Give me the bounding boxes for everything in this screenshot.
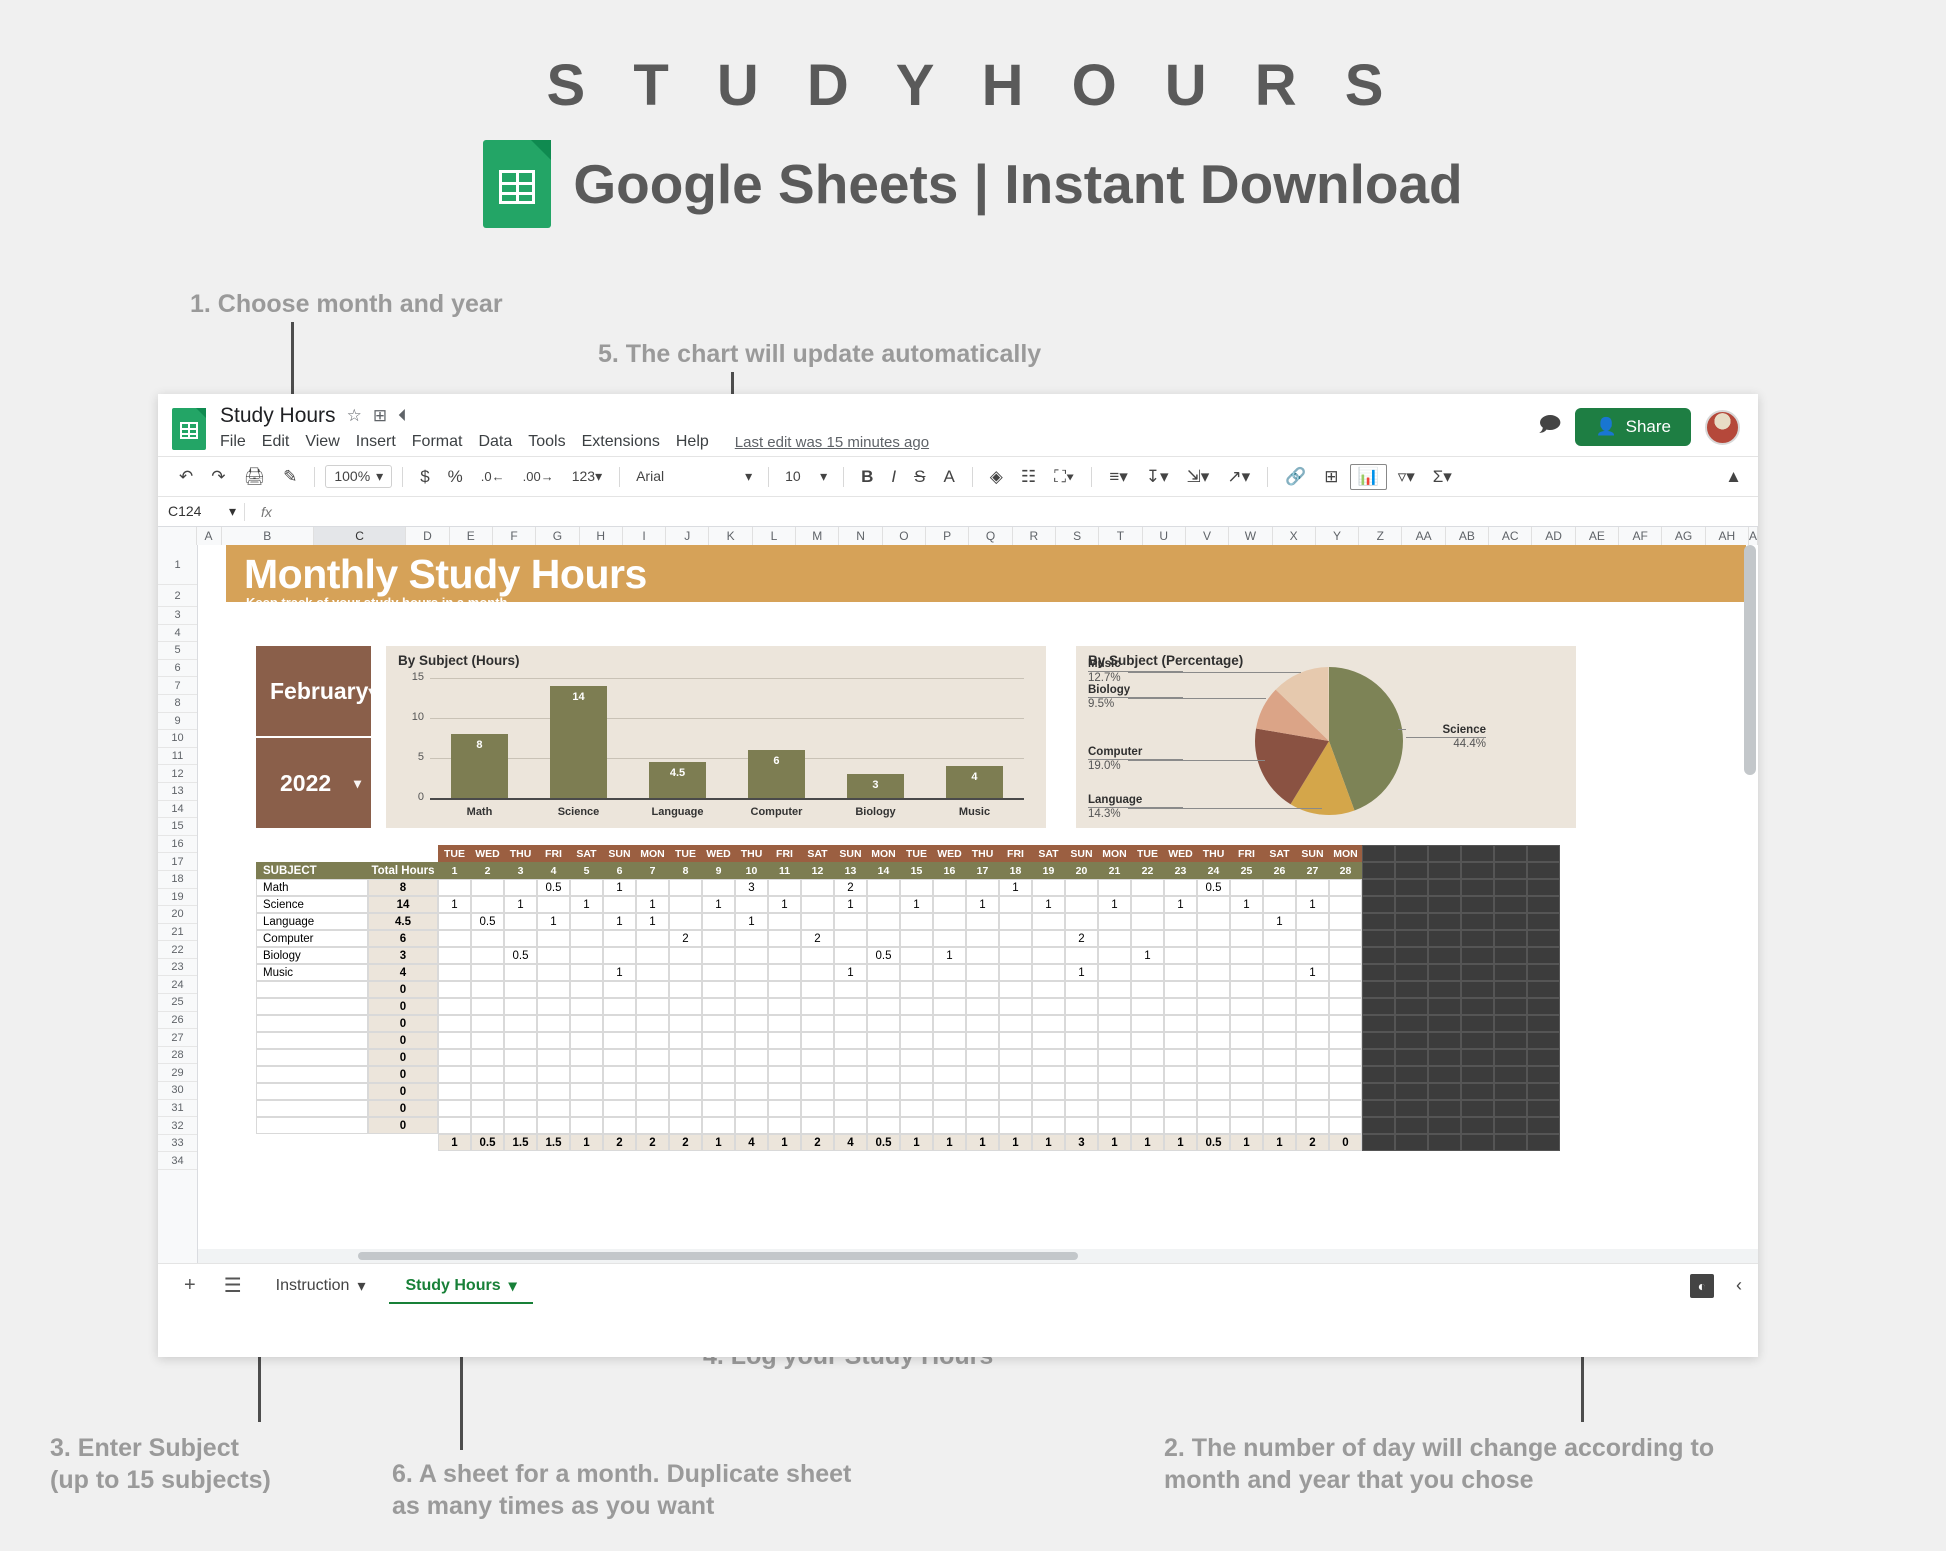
cell-r2-d14[interactable]	[867, 913, 900, 930]
star-icon[interactable]: ☆	[347, 406, 362, 426]
table-row[interactable]: Math80.513210.5	[256, 879, 1560, 896]
cell-r10-d13[interactable]	[834, 1049, 867, 1066]
cell-r13-d12[interactable]	[801, 1100, 834, 1117]
cell-r3-d7[interactable]	[636, 930, 669, 947]
cell-r6-d11[interactable]	[768, 981, 801, 998]
cell-r4-d9[interactable]	[702, 947, 735, 964]
cell-r14-d6[interactable]	[603, 1117, 636, 1134]
cell-r3-d18[interactable]	[999, 930, 1032, 947]
cell-r9-d27[interactable]	[1296, 1032, 1329, 1049]
cell-r10-d9[interactable]	[702, 1049, 735, 1066]
cell-subject-11[interactable]	[256, 1066, 368, 1083]
cell-r10-d4[interactable]	[537, 1049, 570, 1066]
row-header-25[interactable]: 25	[158, 994, 197, 1012]
cell-r12-d20[interactable]	[1065, 1083, 1098, 1100]
cell-r3-d12[interactable]: 2	[801, 930, 834, 947]
column-header-N[interactable]: N	[839, 527, 882, 545]
cell-r0-d2[interactable]	[471, 879, 504, 896]
column-header-AG[interactable]: AG	[1662, 527, 1705, 545]
cell-r5-d9[interactable]	[702, 964, 735, 981]
column-header-A2[interactable]: A	[1749, 527, 1758, 545]
cell-r8-d20[interactable]	[1065, 1015, 1098, 1032]
cell-r12-d11[interactable]	[768, 1083, 801, 1100]
cell-r0-d22[interactable]	[1131, 879, 1164, 896]
cell-r0-d18[interactable]: 1	[999, 879, 1032, 896]
cell-r4-d24[interactable]	[1197, 947, 1230, 964]
cell-r8-d27[interactable]	[1296, 1015, 1329, 1032]
cell-r12-d27[interactable]	[1296, 1083, 1329, 1100]
cell-r9-d21[interactable]	[1098, 1032, 1131, 1049]
cell-r11-d14[interactable]	[867, 1066, 900, 1083]
cell-r6-d18[interactable]	[999, 981, 1032, 998]
cell-r2-d24[interactable]	[1197, 913, 1230, 930]
cell-r14-d21[interactable]	[1098, 1117, 1131, 1134]
row-header-8[interactable]: 8	[158, 695, 197, 713]
sheet-tab-instruction[interactable]: Instruction ▾	[260, 1268, 382, 1304]
cell-r4-d11[interactable]	[768, 947, 801, 964]
cell-r10-d27[interactable]	[1296, 1049, 1329, 1066]
cell-subject-12[interactable]	[256, 1083, 368, 1100]
cell-subject-9[interactable]	[256, 1032, 368, 1049]
cell-r4-d18[interactable]	[999, 947, 1032, 964]
cell-r4-d5[interactable]	[570, 947, 603, 964]
cell-r2-d16[interactable]	[933, 913, 966, 930]
cell-r10-d2[interactable]	[471, 1049, 504, 1066]
borders-icon[interactable]: ☷	[1014, 465, 1043, 489]
cell-r13-d17[interactable]	[966, 1100, 999, 1117]
cell-r0-d1[interactable]	[438, 879, 471, 896]
cell-r10-d3[interactable]	[504, 1049, 537, 1066]
cell-r2-d23[interactable]	[1164, 913, 1197, 930]
cell-r13-d21[interactable]	[1098, 1100, 1131, 1117]
table-row[interactable]: Biology30.50.511	[256, 947, 1560, 964]
cell-r4-d23[interactable]	[1164, 947, 1197, 964]
cell-r13-d13[interactable]	[834, 1100, 867, 1117]
cell-r0-d24[interactable]: 0.5	[1197, 879, 1230, 896]
cell-r8-d24[interactable]	[1197, 1015, 1230, 1032]
row-header-6[interactable]: 6	[158, 660, 197, 678]
cell-r12-d9[interactable]	[702, 1083, 735, 1100]
table-row[interactable]: 0	[256, 1083, 1560, 1100]
cell-r0-d23[interactable]	[1164, 879, 1197, 896]
cell-r4-d17[interactable]	[966, 947, 999, 964]
cell-r5-d5[interactable]	[570, 964, 603, 981]
cell-r3-d21[interactable]	[1098, 930, 1131, 947]
insert-link-icon[interactable]: 🔗	[1278, 465, 1313, 489]
cell-r5-d16[interactable]	[933, 964, 966, 981]
column-header-AB[interactable]: AB	[1446, 527, 1489, 545]
cell-r12-d18[interactable]	[999, 1083, 1032, 1100]
cell-r1-d18[interactable]	[999, 896, 1032, 913]
cell-r10-d12[interactable]	[801, 1049, 834, 1066]
menu-insert[interactable]: Insert	[356, 433, 396, 451]
cell-r6-d20[interactable]	[1065, 981, 1098, 998]
cell-r3-d13[interactable]	[834, 930, 867, 947]
cell-r11-d22[interactable]	[1131, 1066, 1164, 1083]
column-header-B[interactable]: B	[222, 527, 314, 545]
column-header-K[interactable]: K	[709, 527, 752, 545]
cell-r12-d23[interactable]	[1164, 1083, 1197, 1100]
menu-help[interactable]: Help	[676, 433, 709, 451]
cell-r10-d7[interactable]	[636, 1049, 669, 1066]
column-header-Z[interactable]: Z	[1359, 527, 1402, 545]
cell-r13-d16[interactable]	[933, 1100, 966, 1117]
row-header-15[interactable]: 15	[158, 818, 197, 836]
cell-r12-d22[interactable]	[1131, 1083, 1164, 1100]
cell-r1-d16[interactable]	[933, 896, 966, 913]
cell-r4-d16[interactable]: 1	[933, 947, 966, 964]
cell-r10-d17[interactable]	[966, 1049, 999, 1066]
cell-r8-d22[interactable]	[1131, 1015, 1164, 1032]
redo-icon[interactable]: ↷	[204, 465, 232, 489]
cell-r5-d7[interactable]	[636, 964, 669, 981]
cell-r1-d21[interactable]: 1	[1098, 896, 1131, 913]
cell-r4-d7[interactable]	[636, 947, 669, 964]
cell-r5-d4[interactable]	[537, 964, 570, 981]
cell-r5-d18[interactable]	[999, 964, 1032, 981]
cell-r6-d6[interactable]	[603, 981, 636, 998]
cell-r12-d4[interactable]	[537, 1083, 570, 1100]
cell-r13-d9[interactable]	[702, 1100, 735, 1117]
cell-r5-d10[interactable]	[735, 964, 768, 981]
cell-r0-d7[interactable]	[636, 879, 669, 896]
cell-r5-d23[interactable]	[1164, 964, 1197, 981]
cell-r1-d7[interactable]: 1	[636, 896, 669, 913]
cell-r3-d14[interactable]	[867, 930, 900, 947]
cell-r7-d2[interactable]	[471, 998, 504, 1015]
cell-r13-d2[interactable]	[471, 1100, 504, 1117]
cell-r10-d19[interactable]	[1032, 1049, 1065, 1066]
row-header-9[interactable]: 9	[158, 713, 197, 731]
cell-r7-d10[interactable]	[735, 998, 768, 1015]
cell-r11-d17[interactable]	[966, 1066, 999, 1083]
cell-r14-d20[interactable]	[1065, 1117, 1098, 1134]
cell-r13-d1[interactable]	[438, 1100, 471, 1117]
cell-r8-d25[interactable]	[1230, 1015, 1263, 1032]
horizontal-align-icon[interactable]: ≡▾	[1102, 465, 1134, 489]
cell-r1-d5[interactable]: 1	[570, 896, 603, 913]
column-header-I[interactable]: I	[623, 527, 666, 545]
cell-r6-d2[interactable]	[471, 981, 504, 998]
row-header-30[interactable]: 30	[158, 1082, 197, 1100]
cell-r1-d13[interactable]: 1	[834, 896, 867, 913]
cell-r4-d1[interactable]	[438, 947, 471, 964]
cell-r12-d15[interactable]	[900, 1083, 933, 1100]
cell-r14-d5[interactable]	[570, 1117, 603, 1134]
cell-r6-d25[interactable]	[1230, 981, 1263, 998]
cell-r10-d18[interactable]	[999, 1049, 1032, 1066]
row-header-27[interactable]: 27	[158, 1029, 197, 1047]
row-header-4[interactable]: 4	[158, 625, 197, 643]
undo-icon[interactable]: ↶	[172, 465, 200, 489]
cell-r1-d9[interactable]: 1	[702, 896, 735, 913]
cell-r9-d7[interactable]	[636, 1032, 669, 1049]
cell-subject-8[interactable]	[256, 1015, 368, 1032]
cell-subject-5[interactable]: Music	[256, 964, 368, 981]
cell-r6-d28[interactable]	[1329, 981, 1362, 998]
cell-r3-d28[interactable]	[1329, 930, 1362, 947]
cell-subject-0[interactable]: Math	[256, 879, 368, 896]
cell-r9-d22[interactable]	[1131, 1032, 1164, 1049]
cell-r1-d8[interactable]	[669, 896, 702, 913]
row-header-33[interactable]: 33	[158, 1135, 197, 1153]
text-wrap-icon[interactable]: ⇲▾	[1180, 465, 1217, 489]
cell-r10-d1[interactable]	[438, 1049, 471, 1066]
cell-r10-d28[interactable]	[1329, 1049, 1362, 1066]
share-button[interactable]: 👤 Share	[1575, 408, 1691, 446]
cell-r6-d1[interactable]	[438, 981, 471, 998]
cell-r8-d28[interactable]	[1329, 1015, 1362, 1032]
cell-r6-d22[interactable]	[1131, 981, 1164, 998]
table-row[interactable]: Science1411111111111111	[256, 896, 1560, 913]
cell-r8-d18[interactable]	[999, 1015, 1032, 1032]
cell-r3-d26[interactable]	[1263, 930, 1296, 947]
last-edit-status[interactable]: Last edit was 15 minutes ago	[735, 434, 929, 451]
cell-r5-d3[interactable]	[504, 964, 537, 981]
cell-r4-d15[interactable]	[900, 947, 933, 964]
cell-r5-d13[interactable]: 1	[834, 964, 867, 981]
cell-r10-d15[interactable]	[900, 1049, 933, 1066]
cell-r11-d18[interactable]	[999, 1066, 1032, 1083]
cell-r2-d11[interactable]	[768, 913, 801, 930]
cell-r0-d9[interactable]	[702, 879, 735, 896]
cell-r11-d8[interactable]	[669, 1066, 702, 1083]
cell-r10-d16[interactable]	[933, 1049, 966, 1066]
row-header-19[interactable]: 19	[158, 889, 197, 907]
cell-r1-d20[interactable]	[1065, 896, 1098, 913]
document-title[interactable]: Study Hours	[220, 404, 336, 428]
cell-r14-d15[interactable]	[900, 1117, 933, 1134]
cell-r1-d14[interactable]	[867, 896, 900, 913]
cell-r14-d7[interactable]	[636, 1117, 669, 1134]
cell-r0-d10[interactable]: 3	[735, 879, 768, 896]
cell-r4-d14[interactable]: 0.5	[867, 947, 900, 964]
italic-icon[interactable]: I	[884, 465, 903, 489]
cell-r10-d14[interactable]	[867, 1049, 900, 1066]
fill-color-icon[interactable]: ◈	[983, 465, 1010, 489]
column-header-U[interactable]: U	[1143, 527, 1186, 545]
cell-r2-d9[interactable]	[702, 913, 735, 930]
cell-r12-d26[interactable]	[1263, 1083, 1296, 1100]
menu-file[interactable]: File	[220, 433, 246, 451]
column-header-R[interactable]: R	[1013, 527, 1056, 545]
cell-r3-d3[interactable]	[504, 930, 537, 947]
cell-r4-d13[interactable]	[834, 947, 867, 964]
cell-r12-d13[interactable]	[834, 1083, 867, 1100]
cell-r0-d8[interactable]	[669, 879, 702, 896]
cell-r13-d23[interactable]	[1164, 1100, 1197, 1117]
column-header-A[interactable]: A	[197, 527, 222, 545]
cell-r0-d3[interactable]	[504, 879, 537, 896]
cell-r2-d12[interactable]	[801, 913, 834, 930]
cell-r2-d17[interactable]	[966, 913, 999, 930]
column-header-L[interactable]: L	[753, 527, 796, 545]
row-header-17[interactable]: 17	[158, 853, 197, 871]
filter-icon[interactable]: ▿▾	[1391, 465, 1422, 489]
cell-r11-d28[interactable]	[1329, 1066, 1362, 1083]
cell-r7-d1[interactable]	[438, 998, 471, 1015]
cell-r14-d1[interactable]	[438, 1117, 471, 1134]
cell-r12-d12[interactable]	[801, 1083, 834, 1100]
cell-r2-d2[interactable]: 0.5	[471, 913, 504, 930]
cell-r7-d26[interactable]	[1263, 998, 1296, 1015]
horizontal-scrollbar[interactable]	[198, 1249, 1758, 1263]
all-sheets-icon[interactable]: ☰	[214, 1273, 252, 1298]
cell-r12-d14[interactable]	[867, 1083, 900, 1100]
table-row[interactable]: Computer6222	[256, 930, 1560, 947]
cell-r14-d13[interactable]	[834, 1117, 867, 1134]
cell-r14-d2[interactable]	[471, 1117, 504, 1134]
row-header-11[interactable]: 11	[158, 748, 197, 766]
table-row[interactable]: 0	[256, 981, 1560, 998]
column-header-T[interactable]: T	[1099, 527, 1142, 545]
increase-decimal-icon[interactable]: .00→	[516, 467, 561, 486]
name-box[interactable]: C124▾	[158, 503, 244, 520]
row-header-28[interactable]: 28	[158, 1047, 197, 1065]
cell-r9-d24[interactable]	[1197, 1032, 1230, 1049]
cell-r7-d24[interactable]	[1197, 998, 1230, 1015]
cell-r6-d13[interactable]	[834, 981, 867, 998]
cell-r3-d16[interactable]	[933, 930, 966, 947]
cell-r13-d8[interactable]	[669, 1100, 702, 1117]
cell-r9-d3[interactable]	[504, 1032, 537, 1049]
cell-r14-d18[interactable]	[999, 1117, 1032, 1134]
cell-r3-d22[interactable]	[1131, 930, 1164, 947]
cell-r3-d10[interactable]	[735, 930, 768, 947]
row-header-3[interactable]: 3	[158, 607, 197, 625]
cell-r9-d18[interactable]	[999, 1032, 1032, 1049]
cell-r3-d27[interactable]	[1296, 930, 1329, 947]
cell-r0-d5[interactable]	[570, 879, 603, 896]
number-format-selector[interactable]: 123▾	[565, 466, 609, 487]
cell-r11-d2[interactable]	[471, 1066, 504, 1083]
cell-r12-d6[interactable]	[603, 1083, 636, 1100]
cell-r6-d5[interactable]	[570, 981, 603, 998]
cell-r3-d24[interactable]	[1197, 930, 1230, 947]
column-header-AA[interactable]: AA	[1402, 527, 1445, 545]
cell-r5-d1[interactable]	[438, 964, 471, 981]
text-rotation-icon[interactable]: ↗▾	[1220, 465, 1257, 489]
paint-format-icon[interactable]: ✎	[276, 465, 304, 489]
cell-r3-d8[interactable]: 2	[669, 930, 702, 947]
cell-r5-d27[interactable]: 1	[1296, 964, 1329, 981]
column-header-F[interactable]: F	[493, 527, 536, 545]
cell-r1-d22[interactable]	[1131, 896, 1164, 913]
cell-r7-d20[interactable]	[1065, 998, 1098, 1015]
cell-r14-d14[interactable]	[867, 1117, 900, 1134]
cell-r9-d15[interactable]	[900, 1032, 933, 1049]
table-row[interactable]: 0	[256, 1100, 1560, 1117]
cell-r0-d27[interactable]	[1296, 879, 1329, 896]
cell-r1-d17[interactable]: 1	[966, 896, 999, 913]
cell-r13-d24[interactable]	[1197, 1100, 1230, 1117]
row-header-13[interactable]: 13	[158, 783, 197, 801]
cell-r5-d22[interactable]	[1131, 964, 1164, 981]
pie-chart[interactable]: By Subject (Percentage) Science44.4%Lang…	[1076, 646, 1576, 828]
cell-r2-d10[interactable]: 1	[735, 913, 768, 930]
cell-r0-d13[interactable]: 2	[834, 879, 867, 896]
strikethrough-icon[interactable]: S	[907, 465, 932, 489]
cell-r7-d5[interactable]	[570, 998, 603, 1015]
cell-r14-d19[interactable]	[1032, 1117, 1065, 1134]
cell-r0-d20[interactable]	[1065, 879, 1098, 896]
cell-r0-d17[interactable]	[966, 879, 999, 896]
cell-r1-d11[interactable]: 1	[768, 896, 801, 913]
cell-r1-d23[interactable]: 1	[1164, 896, 1197, 913]
cell-r11-d5[interactable]	[570, 1066, 603, 1083]
cell-r14-d26[interactable]	[1263, 1117, 1296, 1134]
cell-r6-d7[interactable]	[636, 981, 669, 998]
cell-r1-d25[interactable]: 1	[1230, 896, 1263, 913]
cell-r6-d3[interactable]	[504, 981, 537, 998]
cell-r0-d6[interactable]: 1	[603, 879, 636, 896]
cell-r1-d12[interactable]	[801, 896, 834, 913]
table-row[interactable]: 0	[256, 1032, 1560, 1049]
cell-r7-d19[interactable]	[1032, 998, 1065, 1015]
cell-r10-d21[interactable]	[1098, 1049, 1131, 1066]
cell-r12-d19[interactable]	[1032, 1083, 1065, 1100]
cell-r5-d14[interactable]	[867, 964, 900, 981]
cell-r1-d27[interactable]: 1	[1296, 896, 1329, 913]
cell-r3-d25[interactable]	[1230, 930, 1263, 947]
cell-r14-d17[interactable]	[966, 1117, 999, 1134]
cell-subject-14[interactable]	[256, 1117, 368, 1134]
cell-r4-d26[interactable]	[1263, 947, 1296, 964]
cell-r8-d7[interactable]	[636, 1015, 669, 1032]
cell-r11-d10[interactable]	[735, 1066, 768, 1083]
cell-r9-d12[interactable]	[801, 1032, 834, 1049]
cell-r0-d15[interactable]	[900, 879, 933, 896]
add-sheet-icon[interactable]: +	[174, 1274, 206, 1297]
cell-r12-d21[interactable]	[1098, 1083, 1131, 1100]
cell-r6-d14[interactable]	[867, 981, 900, 998]
row-header-23[interactable]: 23	[158, 959, 197, 977]
cell-r2-d27[interactable]	[1296, 913, 1329, 930]
cell-r10-d5[interactable]	[570, 1049, 603, 1066]
cell-r2-d8[interactable]	[669, 913, 702, 930]
cell-r5-d6[interactable]: 1	[603, 964, 636, 981]
explore-icon[interactable]: ◐	[1690, 1274, 1714, 1298]
cell-r4-d2[interactable]	[471, 947, 504, 964]
expand-icon[interactable]: ‹	[1736, 1275, 1742, 1296]
cell-r7-d25[interactable]	[1230, 998, 1263, 1015]
cell-r4-d22[interactable]: 1	[1131, 947, 1164, 964]
cell-r11-d27[interactable]	[1296, 1066, 1329, 1083]
cell-r3-d9[interactable]	[702, 930, 735, 947]
cell-r8-d19[interactable]	[1032, 1015, 1065, 1032]
font-selector[interactable]: Arial▾	[630, 466, 758, 487]
cell-r13-d18[interactable]	[999, 1100, 1032, 1117]
cell-r0-d26[interactable]	[1263, 879, 1296, 896]
column-header-AF[interactable]: AF	[1619, 527, 1662, 545]
cell-r2-d6[interactable]: 1	[603, 913, 636, 930]
cell-subject-2[interactable]: Language	[256, 913, 368, 930]
cell-r8-d15[interactable]	[900, 1015, 933, 1032]
cell-r8-d9[interactable]	[702, 1015, 735, 1032]
sheet-grid[interactable]: Monthly Study Hours Keep track of your s…	[198, 545, 1758, 1263]
cell-r11-d19[interactable]	[1032, 1066, 1065, 1083]
study-hours-table[interactable]: TUEWEDTHUFRISATSUNMONTUEWEDTHUFRISATSUNM…	[256, 845, 1560, 1151]
column-header-C[interactable]: C	[314, 527, 406, 545]
cell-r9-d5[interactable]	[570, 1032, 603, 1049]
cell-r2-d7[interactable]: 1	[636, 913, 669, 930]
cell-r8-d14[interactable]	[867, 1015, 900, 1032]
cell-r2-d26[interactable]: 1	[1263, 913, 1296, 930]
cell-r7-d3[interactable]	[504, 998, 537, 1015]
cell-r12-d8[interactable]	[669, 1083, 702, 1100]
functions-icon[interactable]: Σ▾	[1426, 465, 1459, 489]
column-header-AH[interactable]: AH	[1706, 527, 1749, 545]
